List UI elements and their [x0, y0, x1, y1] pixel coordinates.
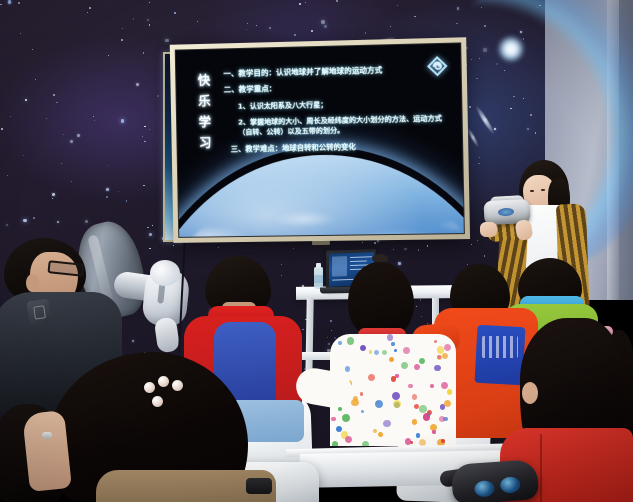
- vr-lens-right: [500, 476, 521, 493]
- water-bottle: [314, 267, 323, 289]
- child-orange-jacket-print-text: [482, 336, 518, 358]
- pearl-hairclip-bead-1: [144, 382, 155, 393]
- slide-bullet-list: 一、教学目的：认识地球并了解地球的运动方式 二、教学重点： 1、认识太阳系及八大…: [223, 64, 457, 161]
- slide-subline-1: 1、认识太阳系及八大行星；: [238, 97, 457, 111]
- woman-front-ring: [42, 432, 52, 439]
- vtitle-char-3: 学: [198, 111, 218, 132]
- mural-earth-highlight: [498, 36, 524, 62]
- girl-puffer-jacket-seam: [540, 434, 542, 502]
- presenter-eye-left: [530, 190, 534, 192]
- slide-line-difficulty: 三、教学难点：地球自转和公转的变化: [231, 140, 457, 153]
- vr-lens-left: [474, 480, 495, 497]
- man-glasses-shoulder-patch: [26, 299, 51, 326]
- man-glasses-ear: [26, 274, 39, 292]
- slide-line-objective: 一、教学目的：认识地球并了解地球的运动方式: [223, 64, 455, 78]
- slide-subline-2: 2、掌握地球的大小、周长及经纬度的大小划分的方法、运动方式（自转、公转）以及五带…: [238, 113, 455, 137]
- presentation-screen[interactable]: 快 乐 学 习 一、教学目的：认识地球并了解地球的运动方式 二、教学重点： 1、…: [175, 42, 465, 237]
- astronaut-helmet: [150, 260, 180, 286]
- vtitle-char-2: 乐: [198, 90, 218, 111]
- vtitle-char-4: 习: [199, 132, 219, 153]
- woman-front-hand: [22, 410, 72, 492]
- pearl-hairclip-bead-2: [158, 376, 169, 387]
- screenshot-scene: 快 乐 学 习 一、教学目的：认识地球并了解地球的运动方式 二、教学重点： 1、…: [0, 0, 633, 502]
- girl-puffer-ear: [522, 382, 538, 404]
- presenter-eye-right: [541, 189, 545, 191]
- vr-headset[interactable]: [451, 459, 540, 502]
- vtitle-char-1: 快: [198, 69, 218, 90]
- slide-text-block: 快 乐 学 习 一、教学目的：认识地球并了解地球的运动方式 二、教学重点： 1、…: [176, 43, 464, 236]
- presenter-hand-left: [480, 222, 497, 237]
- display-brand-badge: [311, 241, 329, 245]
- girl-desk-hair: [348, 262, 414, 338]
- presentation-display-frame[interactable]: 快 乐 学 习 一、教学目的：认识地球并了解地球的运动方式 二、教学重点： 1、…: [170, 37, 470, 243]
- woman-front-watch: [246, 478, 272, 494]
- pearl-hairclip-bead-4: [152, 396, 163, 407]
- pearl-hairclip-bead-3: [172, 380, 183, 391]
- slide-line-keypoints: 二、教学重点：: [224, 80, 456, 94]
- slide-vertical-title: 快 乐 学 习: [198, 69, 219, 153]
